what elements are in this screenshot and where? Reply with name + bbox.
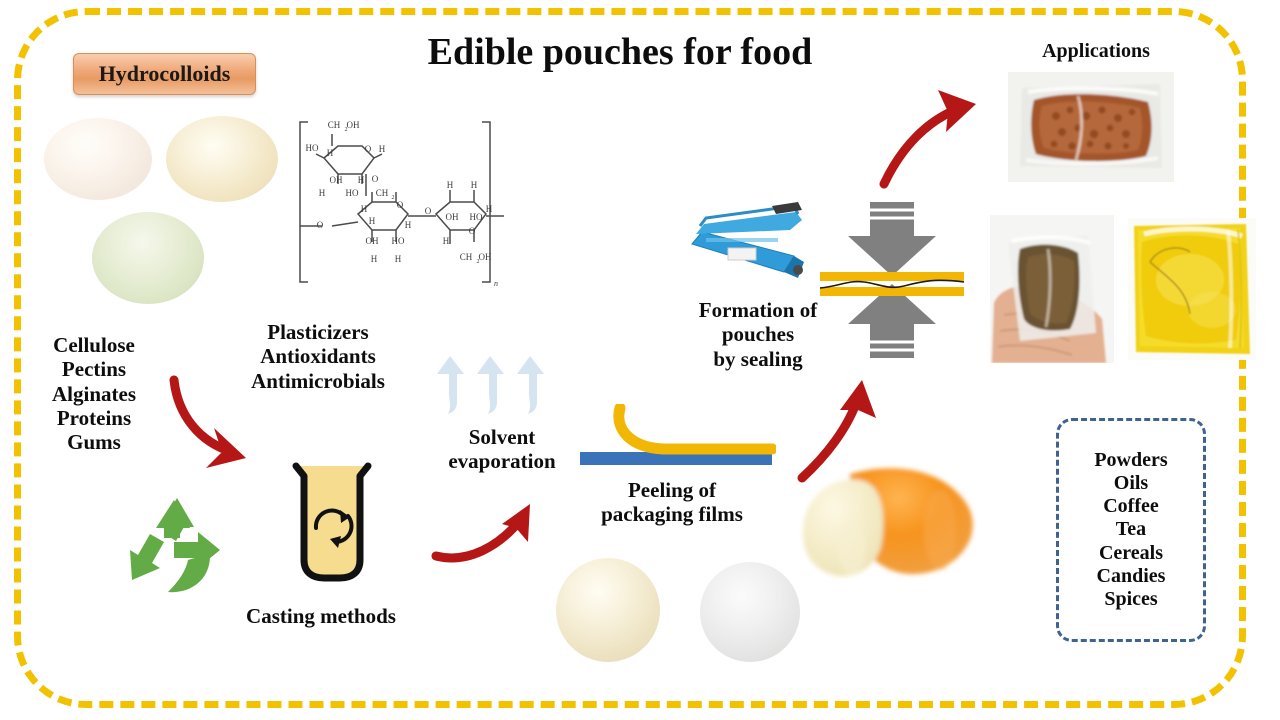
svg-text:O: O xyxy=(469,226,476,236)
svg-text:H: H xyxy=(486,204,493,214)
beaker-icon xyxy=(286,460,378,586)
svg-text:HO: HO xyxy=(306,143,319,153)
photo-oil-pouch xyxy=(1128,218,1256,360)
graphical-abstract-canvas: Edible pouches for food Hydrocolloids xyxy=(0,0,1280,720)
arrow-sealing-to-applications-icon xyxy=(872,84,982,192)
svg-text:n: n xyxy=(494,279,498,288)
svg-text:H: H xyxy=(358,175,365,185)
solvent-evaporation-arrows-icon xyxy=(432,352,560,414)
page-title: Edible pouches for food xyxy=(340,30,900,74)
svg-text:H: H xyxy=(371,254,378,264)
svg-text:OH: OH xyxy=(366,236,379,246)
solvent-evaporation-label: Solvent evaporation xyxy=(432,425,572,474)
powder-pale-green-image xyxy=(92,212,204,304)
svg-text:OH: OH xyxy=(446,212,459,222)
arrow-casting-to-solvent-icon xyxy=(430,490,554,568)
polysaccharide-structure-diagram: CH2OH HOH OH OHHO HHO CH2 HH O O O OHHO … xyxy=(286,104,514,300)
svg-text:H: H xyxy=(379,144,386,154)
photo-granules-pouch xyxy=(1008,72,1174,182)
powder-cream-image xyxy=(166,116,278,202)
svg-text:H: H xyxy=(319,188,326,198)
peeling-films-label: Peeling of packaging films xyxy=(578,478,766,527)
hydrocolloid-list: Cellulose Pectins Alginates Proteins Gum… xyxy=(20,333,168,455)
seal-film-bottom xyxy=(820,287,964,296)
arrow-additives-to-casting-icon xyxy=(160,372,266,476)
casting-methods-label: Casting methods xyxy=(212,604,430,628)
svg-text:H: H xyxy=(361,204,368,214)
svg-text:O: O xyxy=(317,220,324,230)
svg-text:OH: OH xyxy=(347,120,360,130)
svg-text:OH: OH xyxy=(330,175,343,185)
svg-text:O: O xyxy=(372,174,379,184)
svg-text:H: H xyxy=(327,148,334,158)
peeling-film-diagram xyxy=(578,404,776,470)
products-list: Powders Oils Coffee Tea Cereals Candies … xyxy=(1059,449,1203,611)
impulse-heat-sealer-image xyxy=(686,196,810,288)
svg-text:O: O xyxy=(397,200,404,210)
svg-text:CH: CH xyxy=(328,120,341,130)
recycle-leaf-icon xyxy=(124,494,230,598)
svg-text:2: 2 xyxy=(392,195,395,201)
svg-text:H: H xyxy=(369,216,376,226)
film-disc-translucent-image xyxy=(700,562,800,662)
svg-text:O: O xyxy=(365,144,372,154)
svg-text:HO: HO xyxy=(346,188,359,198)
svg-text:H: H xyxy=(443,236,450,246)
hydrocolloids-badge: Hydrocolloids xyxy=(73,53,256,95)
svg-text:O: O xyxy=(425,206,432,216)
pouch-sealing-label: Formation of pouches by sealing xyxy=(670,298,846,371)
svg-text:H: H xyxy=(447,180,454,190)
products-box: Powders Oils Coffee Tea Cereals Candies … xyxy=(1056,418,1206,642)
svg-text:HO: HO xyxy=(470,212,483,222)
powder-white-pink-image xyxy=(44,118,152,200)
arrow-films-to-sealing-icon xyxy=(792,378,888,484)
photo-hand-held-pouch xyxy=(990,215,1114,363)
applications-label: Applications xyxy=(1008,40,1184,63)
svg-text:HO: HO xyxy=(392,236,405,246)
svg-text:CH: CH xyxy=(376,188,389,198)
film-disc-cream-image xyxy=(556,558,660,662)
svg-text:OH: OH xyxy=(479,252,492,262)
svg-text:H: H xyxy=(395,254,402,264)
svg-text:H: H xyxy=(471,180,478,190)
svg-text:H: H xyxy=(405,220,412,230)
svg-text:CH: CH xyxy=(460,252,473,262)
hydrocolloids-badge-label: Hydrocolloids xyxy=(99,61,231,87)
